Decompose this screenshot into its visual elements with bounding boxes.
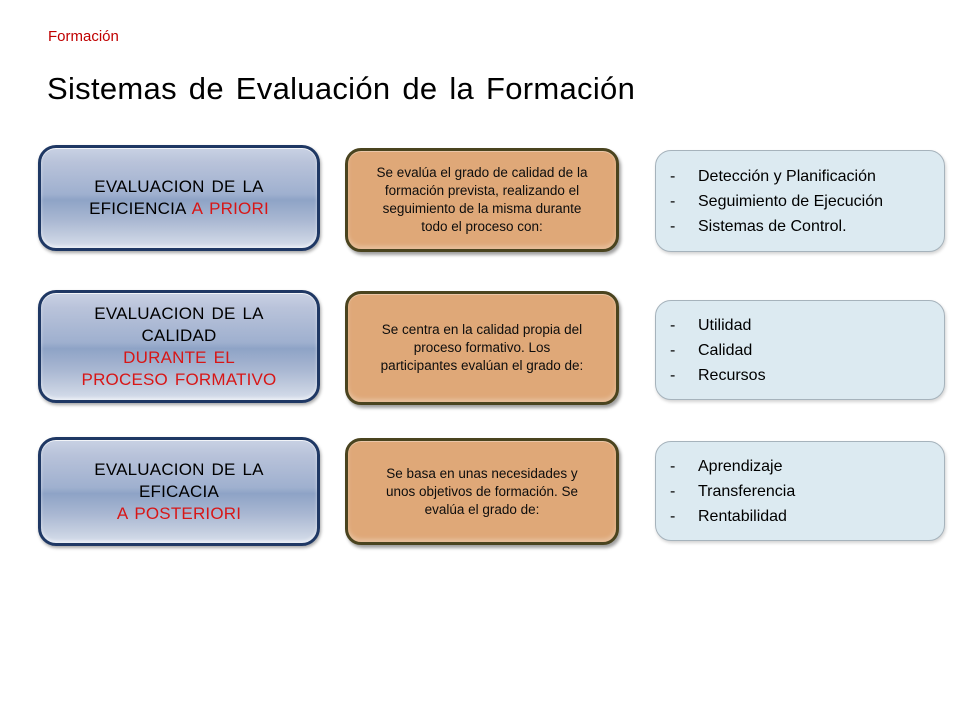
stage-line: EFICACIA — [51, 481, 307, 503]
list-item: -Transferencia — [670, 479, 930, 504]
description-box-eficiencia[interactable]: Se evalúa el grado de calidad de la form… — [345, 148, 619, 252]
list-item-label: Aprendizaje — [698, 454, 783, 479]
list-bullet: - — [670, 479, 698, 504]
description-line: participantes evalúan el grado de: — [360, 357, 604, 375]
list-bullet: - — [670, 504, 698, 529]
list-item-label: Calidad — [698, 338, 752, 363]
list-item: -Calidad — [670, 338, 930, 363]
list-item-label: Recursos — [698, 363, 766, 388]
list-item-label: Rentabilidad — [698, 504, 787, 529]
stage-line-segment: EFICIENCIA — [89, 199, 191, 218]
stage-line-highlight: DURANTE EL — [51, 347, 307, 369]
slide-eyebrow: Formación — [48, 28, 119, 46]
list-item: -Aprendizaje — [670, 454, 930, 479]
list-item-label: Seguimiento de Ejecución — [698, 189, 883, 214]
list-bullet: - — [670, 164, 698, 189]
description-box-eficacia[interactable]: Se basa en unas necesidades y unos objet… — [345, 438, 619, 545]
description-line: formación prevista, realizando el — [360, 182, 604, 200]
stage-line-highlight: PROCESO FORMATIVO — [51, 369, 307, 391]
outcome-list: -Aprendizaje -Transferencia -Rentabilida… — [670, 454, 930, 529]
description-line: todo el proceso con: — [360, 218, 604, 236]
list-item: -Recursos — [670, 363, 930, 388]
list-item-label: Sistemas de Control. — [698, 214, 847, 239]
stage-line-highlight: A POSTERIORI — [51, 503, 307, 525]
list-item-label: Detección y Planificación — [698, 164, 876, 189]
list-bullet: - — [670, 363, 698, 388]
list-item: -Utilidad — [670, 313, 930, 338]
stage-line: EVALUACION DE LA — [51, 459, 307, 481]
list-bullet: - — [670, 214, 698, 239]
list-item: -Detección y Planificación — [670, 164, 930, 189]
list-bullet: - — [670, 454, 698, 479]
description-line: unos objetivos de formación. Se — [360, 483, 604, 501]
description-line: seguimiento de la misma durante — [360, 200, 604, 218]
description-box-calidad[interactable]: Se centra en la calidad propia del proce… — [345, 291, 619, 405]
stage-line: EFICIENCIA A PRIORI — [51, 198, 307, 220]
description-line: Se evalúa el grado de calidad de la — [360, 164, 604, 182]
outcome-list: -Detección y Planificación - Seguimiento… — [670, 164, 930, 239]
list-bullet: - — [670, 338, 698, 363]
description-line: Se centra en la calidad propia del — [360, 321, 604, 339]
list-item-label: Transferencia — [698, 479, 795, 504]
stage-box-eficacia[interactable]: EVALUACION DE LA EFICACIA A POSTERIORI — [38, 437, 320, 546]
list-item-label: Utilidad — [698, 313, 751, 338]
outcome-box-calidad[interactable]: -Utilidad -Calidad -Recursos — [655, 300, 945, 400]
description-line: evalúa el grado de: — [360, 501, 604, 519]
stage-line: CALIDAD — [51, 325, 307, 347]
list-item: -Sistemas de Control. — [670, 214, 930, 239]
outcome-box-eficacia[interactable]: -Aprendizaje -Transferencia -Rentabilida… — [655, 441, 945, 541]
description-line: Se basa en unas necesidades y — [360, 465, 604, 483]
list-item: - Seguimiento de Ejecución — [670, 189, 930, 214]
list-item: -Rentabilidad — [670, 504, 930, 529]
slide-canvas: Formación Sistemas de Evaluación de la F… — [0, 0, 960, 720]
stage-line-segment-highlight: A PRIORI — [192, 199, 269, 218]
stage-line: EVALUACION DE LA — [51, 303, 307, 325]
outcome-list: -Utilidad -Calidad -Recursos — [670, 313, 930, 388]
list-bullet: - — [670, 313, 698, 338]
list-bullet: - — [670, 189, 698, 214]
stage-box-calidad[interactable]: EVALUACION DE LA CALIDAD DURANTE EL PROC… — [38, 290, 320, 403]
description-line: proceso formativo. Los — [360, 339, 604, 357]
stage-box-eficiencia[interactable]: EVALUACION DE LA EFICIENCIA A PRIORI — [38, 145, 320, 251]
outcome-box-eficiencia[interactable]: -Detección y Planificación - Seguimiento… — [655, 150, 945, 252]
stage-line: EVALUACION DE LA — [51, 176, 307, 198]
page-title: Sistemas de Evaluación de la Formación — [47, 70, 635, 108]
